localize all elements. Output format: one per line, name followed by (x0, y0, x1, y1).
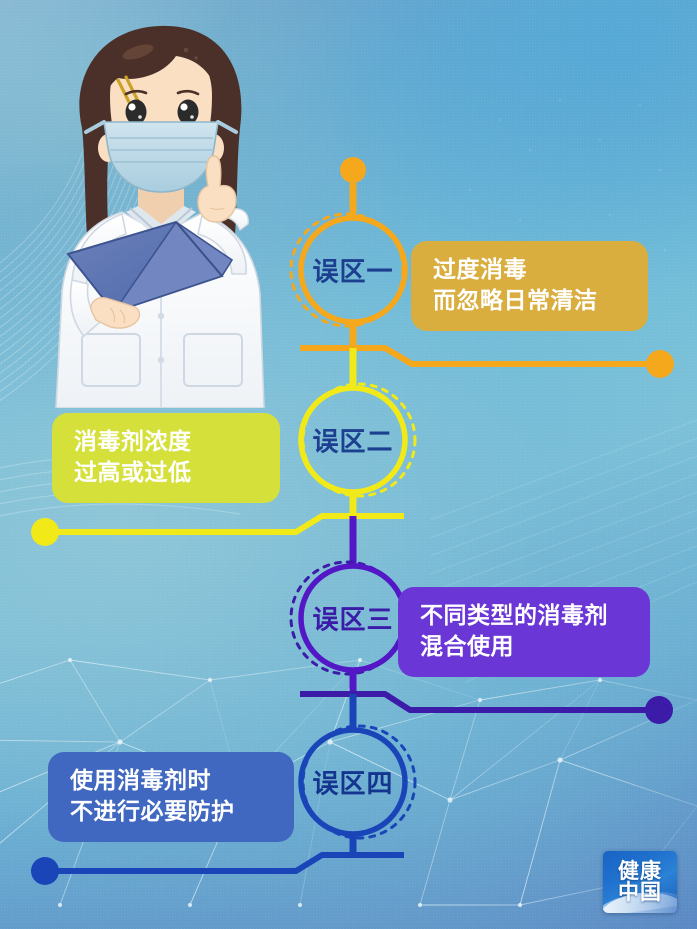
doctor-illustration (26, 16, 302, 408)
logo-line-1: 健康 (618, 861, 662, 882)
infographic-poster: 误区一 误区二 误区三 误区四 过度消毒 而忽略日常清洁 消毒剂浓度 过高或过低… (0, 0, 697, 929)
logo-text: 健康 中国 (603, 851, 677, 913)
circle-label-3: 误区三 (312, 600, 393, 637)
circle-label-1: 误区一 (312, 252, 393, 289)
myth-badge-4: 使用消毒剂时 不进行必要防护 (48, 752, 294, 842)
myth-badge-1: 过度消毒 而忽略日常清洁 (411, 241, 648, 331)
circle-label-2: 误区二 (312, 422, 393, 459)
myth-badge-2: 消毒剂浓度 过高或过低 (52, 413, 280, 503)
logo-line-2: 中国 (618, 882, 662, 903)
myth-badge-3: 不同类型的消毒剂 混合使用 (398, 587, 650, 677)
healthy-china-logo: 健康 中国 (603, 851, 677, 913)
circle-label-4: 误区四 (312, 764, 393, 801)
